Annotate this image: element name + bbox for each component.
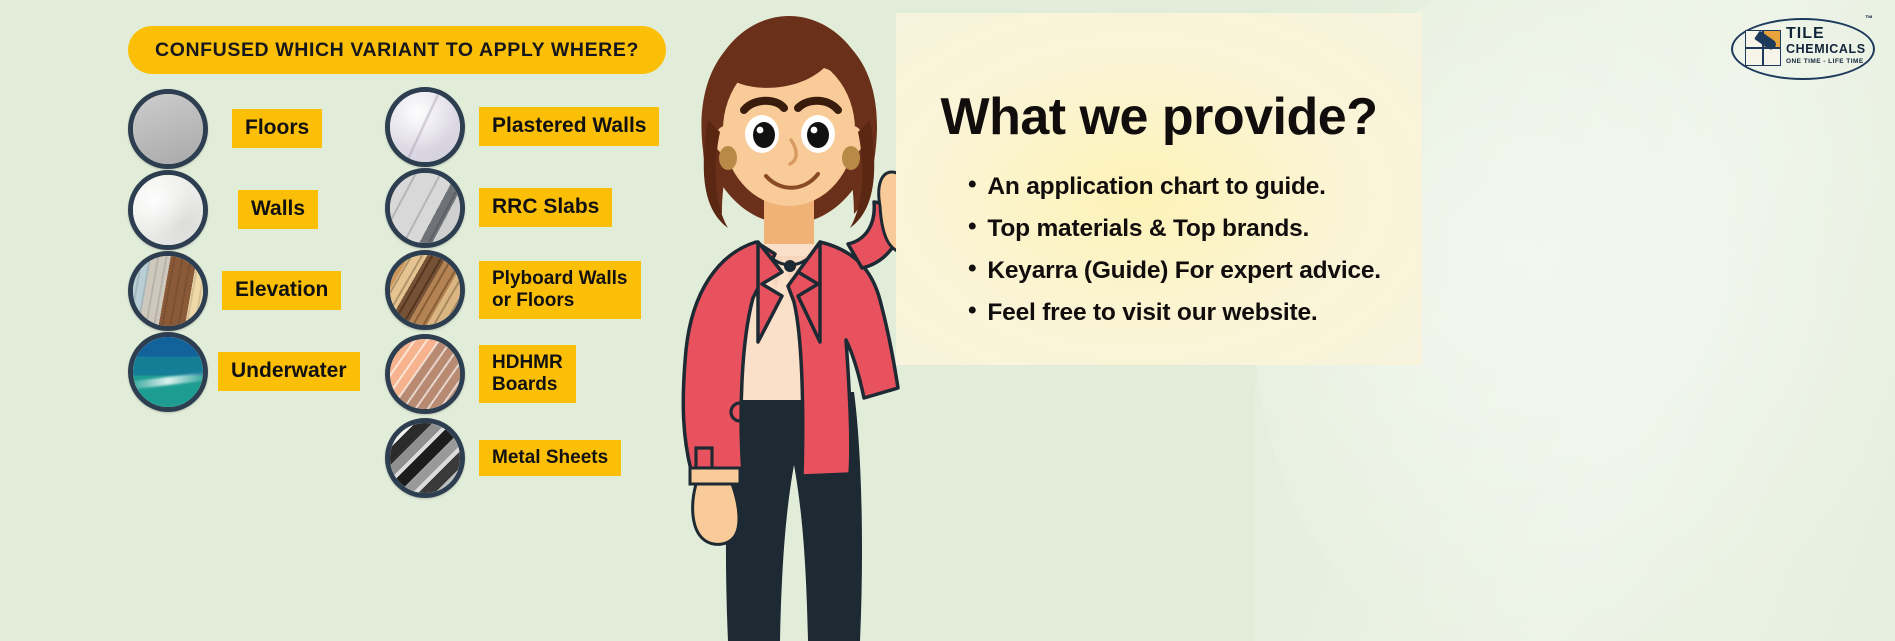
item-label-elevation: Elevation [222, 271, 341, 310]
list-item: • Feel free to visit our website. [968, 299, 1404, 327]
item-label-floors: Floors [232, 109, 322, 148]
list-item-underwater[interactable]: Underwater [128, 331, 360, 412]
plywood-thumb [385, 250, 465, 330]
underwater-thumb [128, 332, 208, 412]
list-item: • Top materials & Top brands. [968, 215, 1404, 243]
item-label-rrc-slabs: RRC Slabs [479, 188, 612, 227]
plastered-wall-thumb [385, 87, 465, 167]
bullet-dot-icon: • [968, 299, 976, 324]
building-elevation-thumb [128, 251, 208, 331]
list-item-metal-sheets[interactable]: Metal Sheets [385, 416, 659, 500]
item-label-hdhmr: HDHMR Boards [479, 345, 576, 403]
hdhmr-board-thumb [385, 334, 465, 414]
item-label-underwater: Underwater [218, 352, 360, 391]
list-item-elevation[interactable]: Elevation [128, 250, 360, 331]
list-item-plyboard[interactable]: Plyboard Walls or Floors [385, 248, 659, 332]
list-item: • Keyarra (Guide) For expert advice. [968, 257, 1404, 285]
trademark-symbol: ™ [1865, 14, 1873, 23]
card-title: What we provide? [896, 87, 1422, 147]
left-item-column: Floors Walls Elevation Underwater [128, 88, 360, 412]
headline-text: CONFUSED WHICH VARIANT TO APPLY WHERE? [155, 39, 639, 62]
headline-pill: CONFUSED WHICH VARIANT TO APPLY WHERE? [128, 26, 666, 74]
what-we-provide-card: What we provide? • An application chart … [896, 13, 1422, 365]
list-item-walls[interactable]: Walls [128, 169, 360, 250]
plaster-wall-thumb [128, 170, 208, 250]
logo-line-2: CHEMICALS [1786, 43, 1876, 56]
item-label-plyboard: Plyboard Walls or Floors [479, 261, 641, 319]
logo-wordmark: TILE CHEMICALS ONE TIME - LIFE TIME [1786, 26, 1876, 65]
logo-tagline: ONE TIME - LIFE TIME [1786, 58, 1876, 65]
brand-logo[interactable]: TILE CHEMICALS ONE TIME - LIFE TIME ™ [1731, 10, 1877, 80]
bullet-dot-icon: • [968, 173, 976, 198]
bullet-text: Keyarra (Guide) For expert advice. [987, 257, 1381, 285]
logo-line-1: TILE [1786, 26, 1876, 42]
list-item: • An application chart to guide. [968, 173, 1404, 201]
bullet-text: Top materials & Top brands. [987, 215, 1309, 243]
item-label-walls: Walls [238, 190, 318, 229]
metal-sheet-thumb [385, 418, 465, 498]
list-item-hdhmr[interactable]: HDHMR Boards [385, 332, 659, 416]
bullet-dot-icon: • [968, 257, 976, 282]
right-item-column: Plastered Walls RRC Slabs Plyboard Walls… [385, 86, 659, 500]
bullet-dot-icon: • [968, 215, 976, 240]
concrete-slab-thumb [385, 168, 465, 248]
list-item-rrc-slabs[interactable]: RRC Slabs [385, 167, 659, 248]
item-label-metal-sheets: Metal Sheets [479, 440, 621, 476]
list-item-floors[interactable]: Floors [128, 88, 360, 169]
benefits-list: • An application chart to guide. • Top m… [968, 173, 1404, 341]
list-item-plastered-walls[interactable]: Plastered Walls [385, 86, 659, 167]
bullet-text: An application chart to guide. [987, 173, 1325, 201]
item-label-plastered-walls: Plastered Walls [479, 107, 659, 146]
floor-tile-thumb [128, 89, 208, 169]
promo-banner: CONFUSED WHICH VARIANT TO APPLY WHERE? F… [0, 0, 1895, 641]
bullet-text: Feel free to visit our website. [987, 299, 1317, 327]
